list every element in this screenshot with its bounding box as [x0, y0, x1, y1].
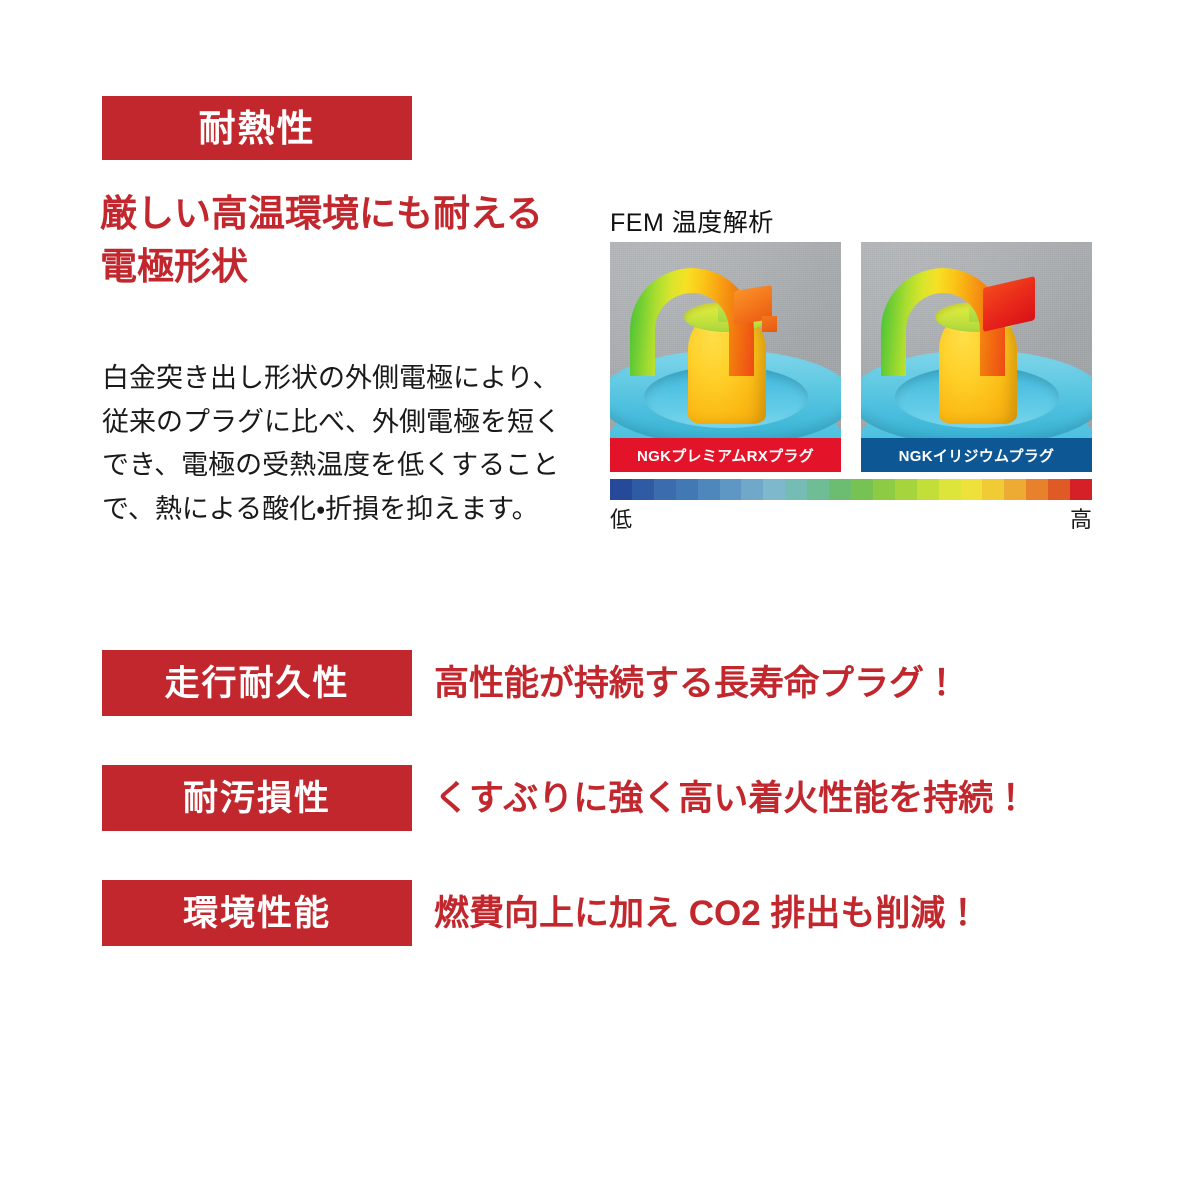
heat-resistance-badge: 耐熱性	[102, 96, 412, 160]
feature-row-durability: 走行耐久性 高性能が持続する長寿命プラグ！	[102, 650, 1062, 716]
heat-resistance-heading-line2: 電極形状	[100, 241, 580, 294]
temperature-scale: 低 高	[610, 479, 1092, 532]
temperature-scale-swatch-12	[873, 479, 895, 500]
temperature-scale-swatch-6	[741, 479, 763, 500]
temperature-scale-swatch-1	[632, 479, 654, 500]
temperature-scale-swatch-0	[610, 479, 632, 500]
heat-resistance-badge-label: 耐熱性	[199, 110, 316, 147]
feature-row-fouling-resistance: 耐汚損性 くすぶりに強く高い着火性能を持続！	[102, 765, 1062, 831]
temperature-scale-swatch-20	[1048, 479, 1070, 500]
temperature-scale-swatch-11	[851, 479, 873, 500]
fem-panel-iridium: NGKイリジウムプラグ	[861, 242, 1092, 472]
temperature-scale-swatch-13	[895, 479, 917, 500]
feature-badge-durability: 走行耐久性	[102, 650, 412, 716]
temperature-scale-bar	[610, 479, 1092, 500]
feature-text-fouling-resistance: くすぶりに強く高い着火性能を持続！	[434, 781, 1028, 816]
fem-analysis-title: FEM 温度解析	[610, 203, 774, 239]
feature-text-environmental: 燃費向上に加え CO2 排出も削減！	[434, 896, 980, 931]
temperature-scale-swatch-8	[785, 479, 807, 500]
fem-panel-caption-premium-rx: NGKプレミアムRXプラグ	[610, 438, 841, 472]
feature-badge-fouling-resistance: 耐汚損性	[102, 765, 412, 831]
feature-badge-environmental: 環境性能	[102, 880, 412, 946]
temperature-scale-low-label: 低	[610, 502, 632, 534]
temperature-scale-swatch-21	[1070, 479, 1092, 500]
feature-badge-label: 耐汚損性	[183, 781, 331, 816]
fem-panel-premium-rx: NGKプレミアムRXプラグ	[610, 242, 841, 472]
heat-resistance-heading: 厳しい高温環境にも耐える 電極形状	[100, 188, 580, 293]
fem-panel-caption-iridium: NGKイリジウムプラグ	[861, 438, 1092, 472]
temperature-scale-high-label: 高	[1070, 502, 1092, 534]
temperature-scale-swatch-7	[763, 479, 785, 500]
feature-badge-label: 走行耐久性	[164, 666, 349, 701]
temperature-scale-swatch-2	[654, 479, 676, 500]
temperature-scale-swatch-17	[982, 479, 1004, 500]
feature-row-environmental: 環境性能 燃費向上に加え CO2 排出も削減！	[102, 880, 1062, 946]
temperature-scale-swatch-16	[961, 479, 983, 500]
temperature-scale-swatch-18	[1004, 479, 1026, 500]
temperature-scale-swatch-5	[720, 479, 742, 500]
temperature-scale-swatch-4	[698, 479, 720, 500]
temperature-scale-swatch-10	[829, 479, 851, 500]
temperature-scale-swatch-14	[917, 479, 939, 500]
fem-analysis-panels: NGKプレミアムRXプラグ NGKイリジウムプラグ	[610, 242, 1092, 472]
heat-resistance-body-text: 白金突き出し形状の外側電極により、従来のプラグに比べ、外側電極を短くでき、電極の…	[102, 357, 582, 532]
heat-resistance-heading-line1: 厳しい高温環境にも耐える	[100, 188, 580, 241]
ground-electrode-platinum-tip	[762, 316, 777, 332]
temperature-scale-swatch-9	[807, 479, 829, 500]
feature-text-durability: 高性能が持続する長寿命プラグ！	[434, 666, 959, 701]
temperature-scale-swatch-3	[676, 479, 698, 500]
feature-badge-label: 環境性能	[183, 896, 331, 931]
temperature-scale-swatch-15	[939, 479, 961, 500]
temperature-scale-swatch-19	[1026, 479, 1048, 500]
temperature-scale-labels: 低 高	[610, 502, 1092, 532]
